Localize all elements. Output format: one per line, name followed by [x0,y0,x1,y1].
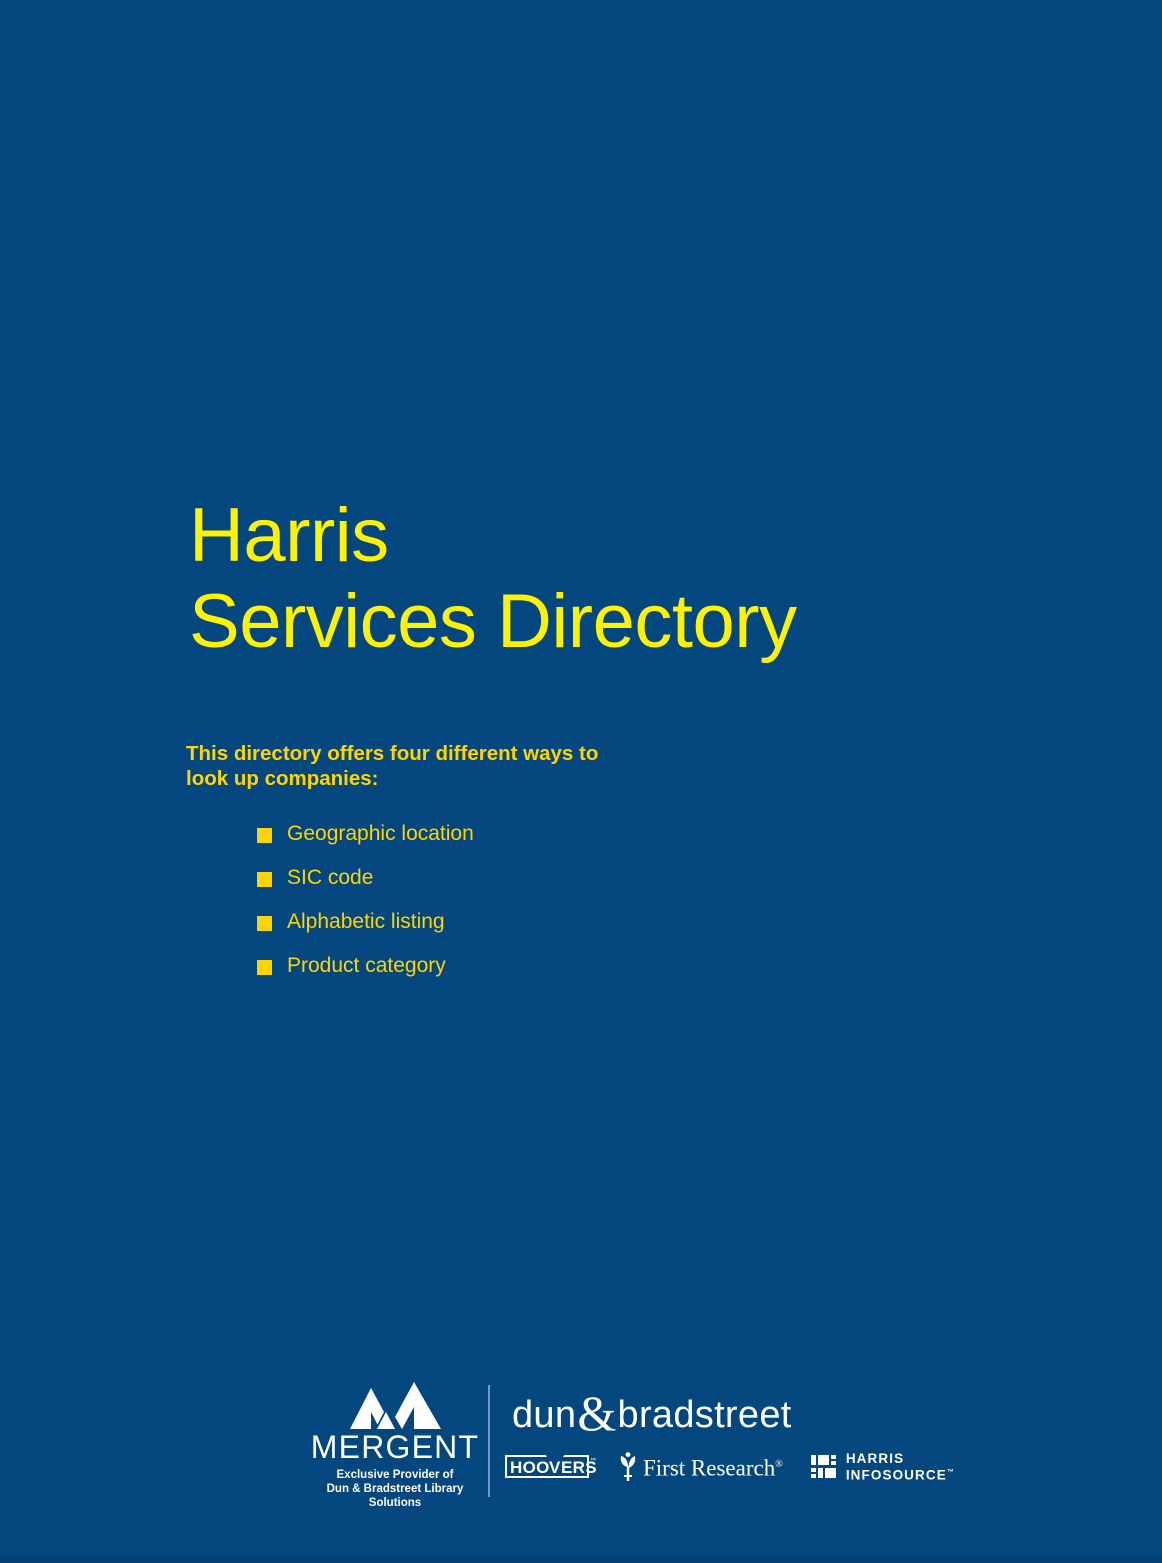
registered-mark-icon: ® [775,1459,783,1470]
dun-bradstreet-logo: dun & bradstreet [512,1386,912,1439]
list-item: SIC code [257,856,717,900]
mergent-wordmark: MERGENT [305,1430,485,1464]
page-bottom-edge [0,1556,1162,1563]
footer-divider [488,1385,490,1497]
lookup-methods-list: Geographic location SIC code Alphabetic … [257,812,717,988]
intro-text: This directory offers four different way… [186,741,606,791]
square-bullet-icon [257,960,272,975]
trademark-icon: ™ [947,1469,954,1476]
dnb-word-left: dun [512,1391,576,1439]
first-research-text: First Research [643,1456,775,1481]
svg-text:™: ™ [590,1457,596,1464]
sprout-icon [618,1452,638,1482]
footer-logos: MERGENT Exclusive Provider of Dun & Brad… [0,1378,1162,1508]
first-research-wordmark: First Research® [643,1452,783,1482]
harris-grid-icon [811,1454,838,1480]
mergent-logo: MERGENT Exclusive Provider of Dun & Brad… [305,1382,485,1510]
hoovers-logo: HOO V ERS ™ [504,1453,596,1481]
square-bullet-icon [257,916,272,931]
svg-text:V: V [549,1458,561,1477]
mergent-mountain-icon [348,1382,443,1429]
dnb-word-right: bradstreet [618,1391,792,1439]
list-item: Alphabetic listing [257,900,717,944]
cover-page: Harris Services Directory This directory… [0,0,1162,1563]
harris-infosource-wordmark: HARRIS INFOSOURCE™ [846,1452,954,1483]
harris-infosource-text: INFOSOURCE [846,1468,947,1483]
harris-word-line-2: INFOSOURCE™ [846,1466,954,1483]
mergent-tagline-line-2: Dun & Bradstreet Library Solutions [305,1482,485,1510]
page-title: Harris Services Directory [189,493,949,665]
dun-bradstreet-wordmark: dun & bradstreet [512,1386,912,1439]
ampersand-icon: & [577,1389,616,1437]
list-item: Product category [257,944,717,988]
harris-word-line-1: HARRIS [846,1452,954,1466]
list-item-label: Product category [287,954,446,978]
sub-brand-row: HOO V ERS ™ First Research® [504,1452,954,1483]
square-bullet-icon [257,828,272,843]
hoovers-mark-icon: HOO V ERS ™ [504,1453,596,1481]
title-line-2: Services Directory [189,579,949,665]
first-research-logo: First Research® [618,1452,783,1482]
mergent-tagline: Exclusive Provider of Dun & Bradstreet L… [305,1468,485,1510]
mergent-tagline-line-1: Exclusive Provider of [305,1468,485,1482]
title-line-1: Harris [189,493,949,579]
harris-infosource-logo: HARRIS INFOSOURCE™ [811,1452,954,1483]
square-bullet-icon [257,872,272,887]
list-item-label: SIC code [287,866,373,890]
list-item-label: Geographic location [287,822,474,846]
list-item: Geographic location [257,812,717,856]
svg-text:HOO: HOO [510,1458,550,1477]
list-item-label: Alphabetic listing [287,910,445,934]
